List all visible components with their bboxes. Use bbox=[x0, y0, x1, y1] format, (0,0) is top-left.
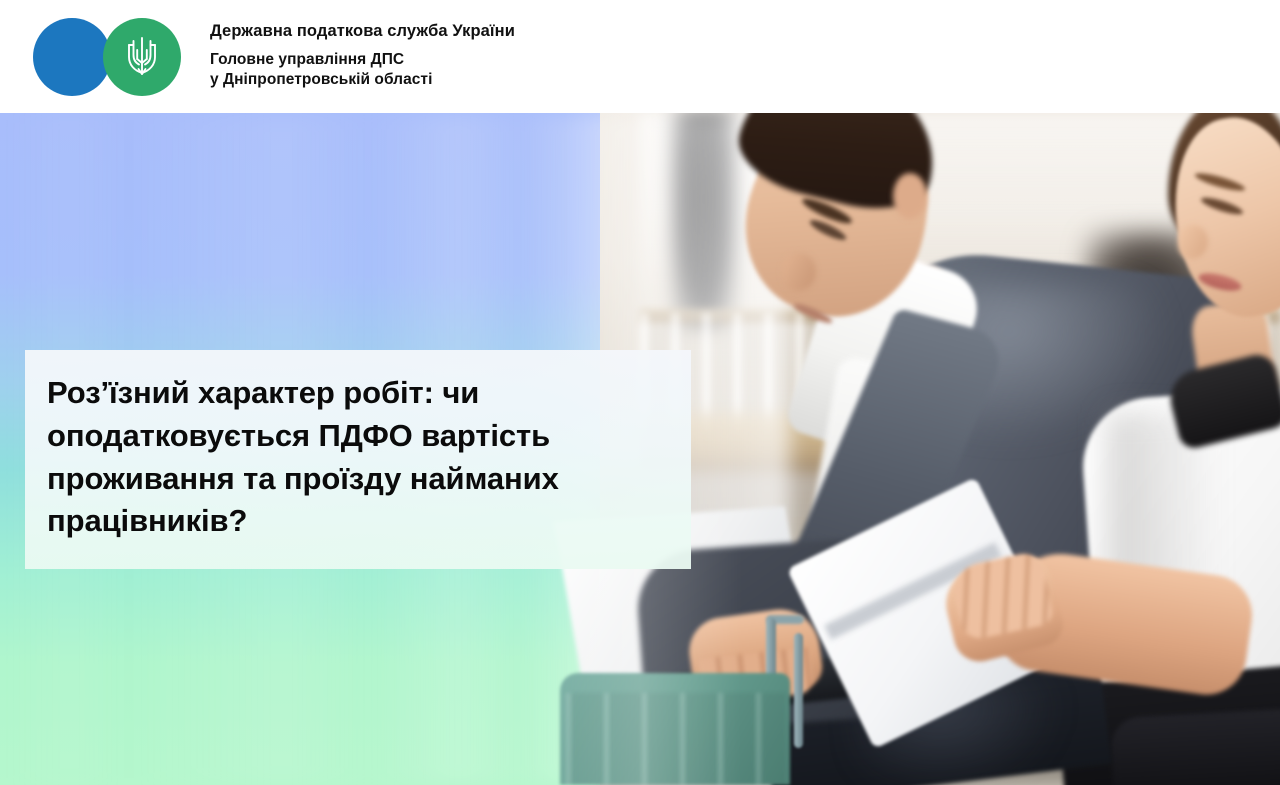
organization-title: Державна податкова служба України bbox=[210, 22, 515, 41]
headline-box: Роз’їзний характер робіт: чи оподатковує… bbox=[25, 350, 691, 569]
suitcase-handle-bar-right bbox=[794, 633, 803, 748]
organization-logo[interactable] bbox=[33, 18, 181, 96]
man-ear bbox=[893, 173, 927, 219]
hero-banner: Роз’їзний характер робіт: чи оподатковує… bbox=[0, 113, 1280, 785]
header-text-block: Державна податкова служба України Головн… bbox=[210, 22, 515, 90]
page-root: Державна податкова служба України Головн… bbox=[0, 0, 1280, 785]
headline-title: Роз’їзний характер робіт: чи оподатковує… bbox=[47, 372, 663, 543]
organization-subtitle-line2: у Дніпропетровській області bbox=[210, 70, 515, 90]
woman-leg bbox=[1110, 708, 1280, 785]
blue-circle-icon bbox=[33, 18, 111, 96]
site-header: Державна податкова служба України Головн… bbox=[0, 0, 1280, 113]
organization-subtitle-line1: Головне управління ДПС bbox=[210, 50, 515, 70]
organization-subtitle: Головне управління ДПС у Дніпропетровськ… bbox=[210, 50, 515, 91]
suitcase-ribs bbox=[566, 693, 786, 785]
trident-icon bbox=[103, 18, 181, 96]
